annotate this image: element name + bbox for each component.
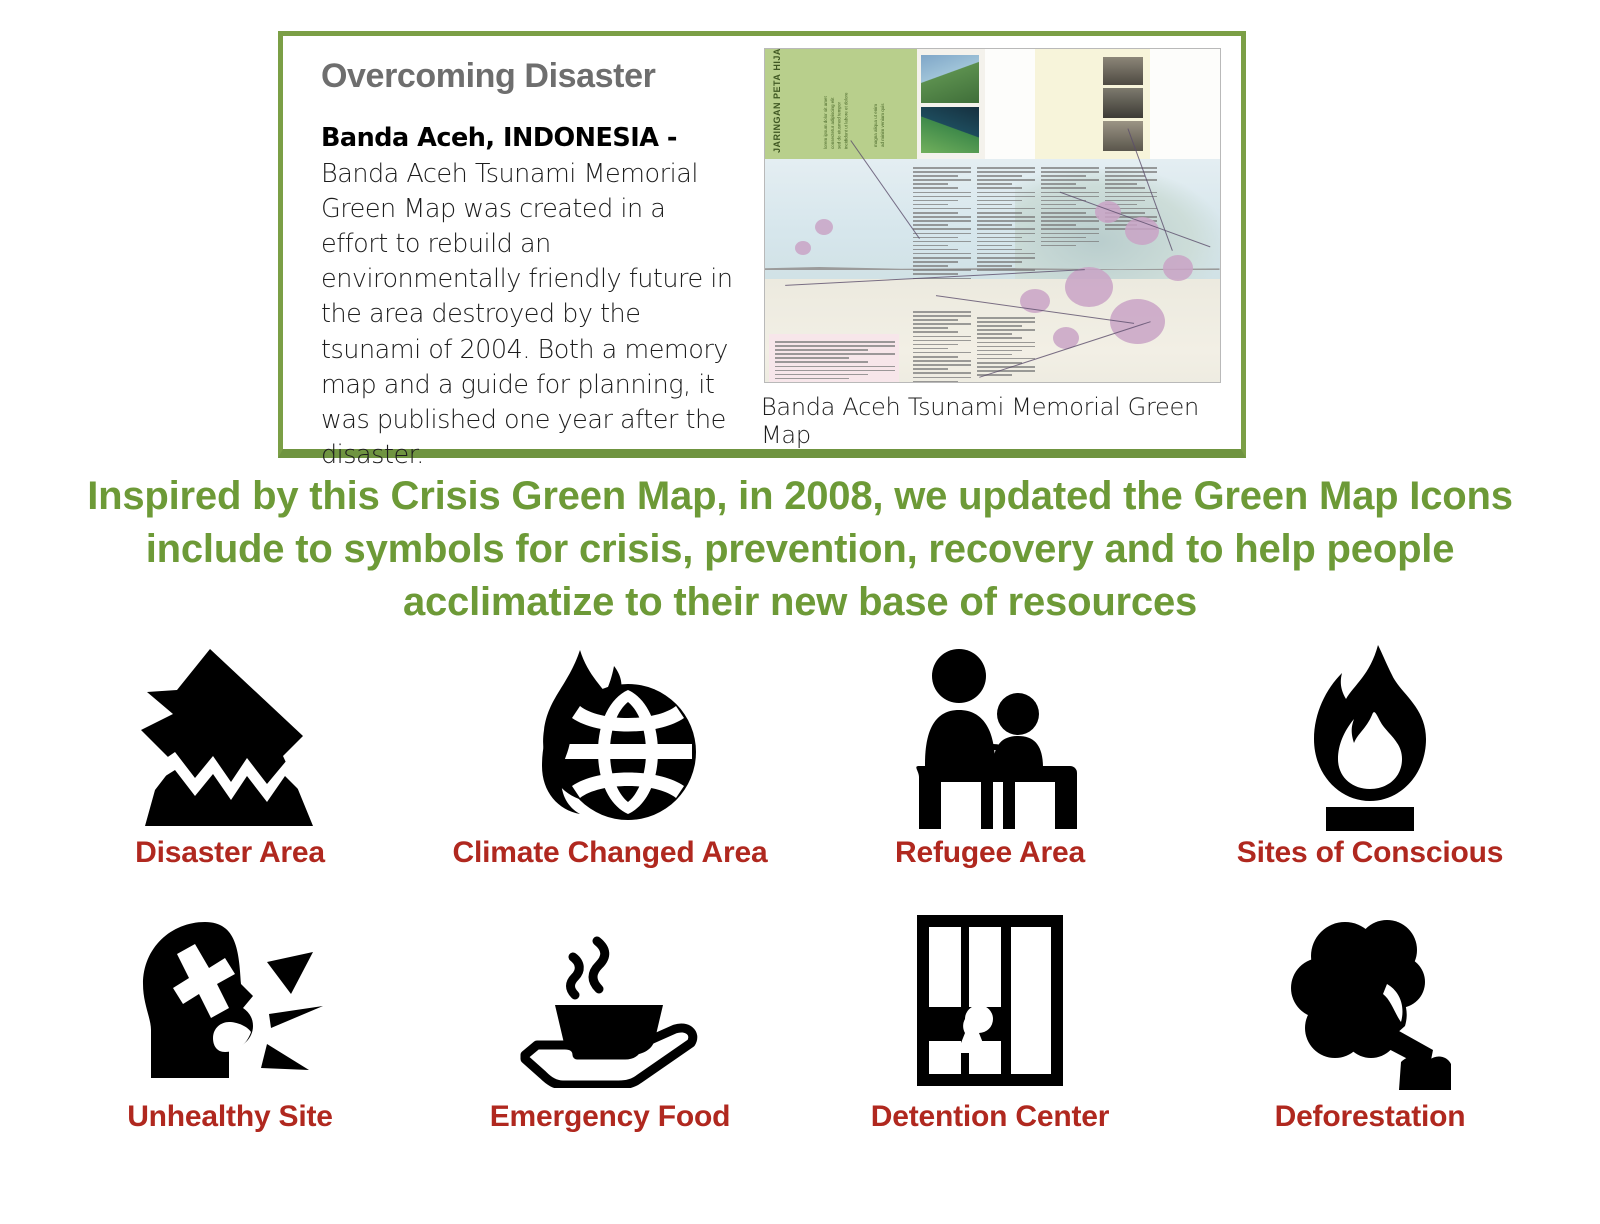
icon-label: Climate Changed Area (453, 836, 768, 870)
map-caption: Banda Aceh Tsunami Memorial Green Map (761, 393, 1223, 449)
icon-cell-deforestation: Deforestation (1180, 904, 1560, 1156)
broken-house-icon (135, 640, 325, 832)
map-urban-cluster (815, 219, 833, 235)
icon-cell-unhealthy-site: Unhealthy Site (40, 904, 420, 1156)
icon-cell-detention-center: Detention Center (800, 904, 1180, 1156)
card-text-column: Overcoming Disaster Banda Aceh, INDONESI… (283, 36, 753, 449)
card-title: Overcoming Disaster (321, 58, 753, 95)
map-inset-photo-1 (921, 55, 979, 103)
icon-grid: Disaster Area (40, 640, 1560, 1156)
map-urban-cluster (1163, 255, 1193, 281)
map-legend-text (775, 341, 895, 383)
map-side-photo-2 (1103, 88, 1143, 118)
map-side-photos (1103, 57, 1145, 155)
refugee-family-suitcase-icon (903, 640, 1078, 832)
map-urban-cluster (795, 241, 811, 255)
map-white-area (985, 49, 1035, 159)
icon-label: Detention Center (871, 1100, 1110, 1134)
map-green-title-panel: JARINGAN PETA HIJAU lorem ipsum dolor si… (765, 49, 917, 159)
icon-label: Sites of Conscious (1237, 836, 1503, 870)
icon-cell-climate-changed-area: Climate Changed Area (420, 640, 800, 892)
headline-text: Inspired by this Crisis Green Map, in 20… (80, 470, 1520, 628)
map-text-column (913, 167, 971, 285)
card-body-lead: Banda Aceh, INDONESIA - (321, 123, 677, 153)
icon-label: Refugee Area (895, 836, 1085, 870)
map-text-column (977, 167, 1035, 285)
map-right-panel (1150, 49, 1220, 159)
icon-label: Disaster Area (135, 836, 325, 870)
shouting-head-icon (133, 904, 328, 1096)
icon-cell-sites-of-conscious: Sites of Conscious (1180, 640, 1560, 892)
overcoming-disaster-card: Overcoming Disaster Banda Aceh, INDONESI… (278, 31, 1246, 458)
icon-label: Unhealthy Site (127, 1100, 333, 1134)
map-side-photo-1 (1103, 57, 1143, 85)
icon-cell-refugee-area: Refugee Area (800, 640, 1180, 892)
eternal-flame-icon (1300, 640, 1440, 832)
map-main-area (765, 159, 1220, 383)
map-text-column (913, 311, 971, 383)
map-side-photo-3 (1103, 121, 1143, 151)
burning-globe-icon (518, 640, 703, 832)
tree-stump-axe-icon (1283, 904, 1458, 1096)
icon-label: Emergency Food (490, 1100, 731, 1134)
icon-label: Deforestation (1275, 1100, 1466, 1134)
map-panel-subtext-1: lorem ipsum dolor sit ametconsectetur ad… (823, 61, 850, 149)
card-body-text: Banda Aceh, INDONESIA - Banda Aceh Tsuna… (321, 121, 736, 473)
map-urban-cluster (1065, 267, 1113, 307)
icon-cell-emergency-food: Emergency Food (420, 904, 800, 1156)
card-image-column: JARINGAN PETA HIJAU lorem ipsum dolor si… (753, 36, 1241, 449)
map-inset-photos (917, 49, 985, 159)
green-map-thumbnail: JARINGAN PETA HIJAU lorem ipsum dolor si… (764, 48, 1221, 383)
map-text-column (977, 317, 1035, 383)
hand-holding-hot-bowl-icon (515, 904, 705, 1096)
icon-cell-disaster-area: Disaster Area (40, 640, 420, 892)
map-panel-title: JARINGAN PETA HIJAU (771, 55, 783, 153)
prison-bars-keyhole-icon (915, 904, 1065, 1096)
card-body-rest: Banda Aceh Tsunami Memorial Green Map wa… (321, 159, 733, 471)
map-panel-subtext-2: magna aliqua ut enimad minim veniam quis (873, 65, 887, 147)
map-inset-photo-2 (921, 107, 979, 153)
